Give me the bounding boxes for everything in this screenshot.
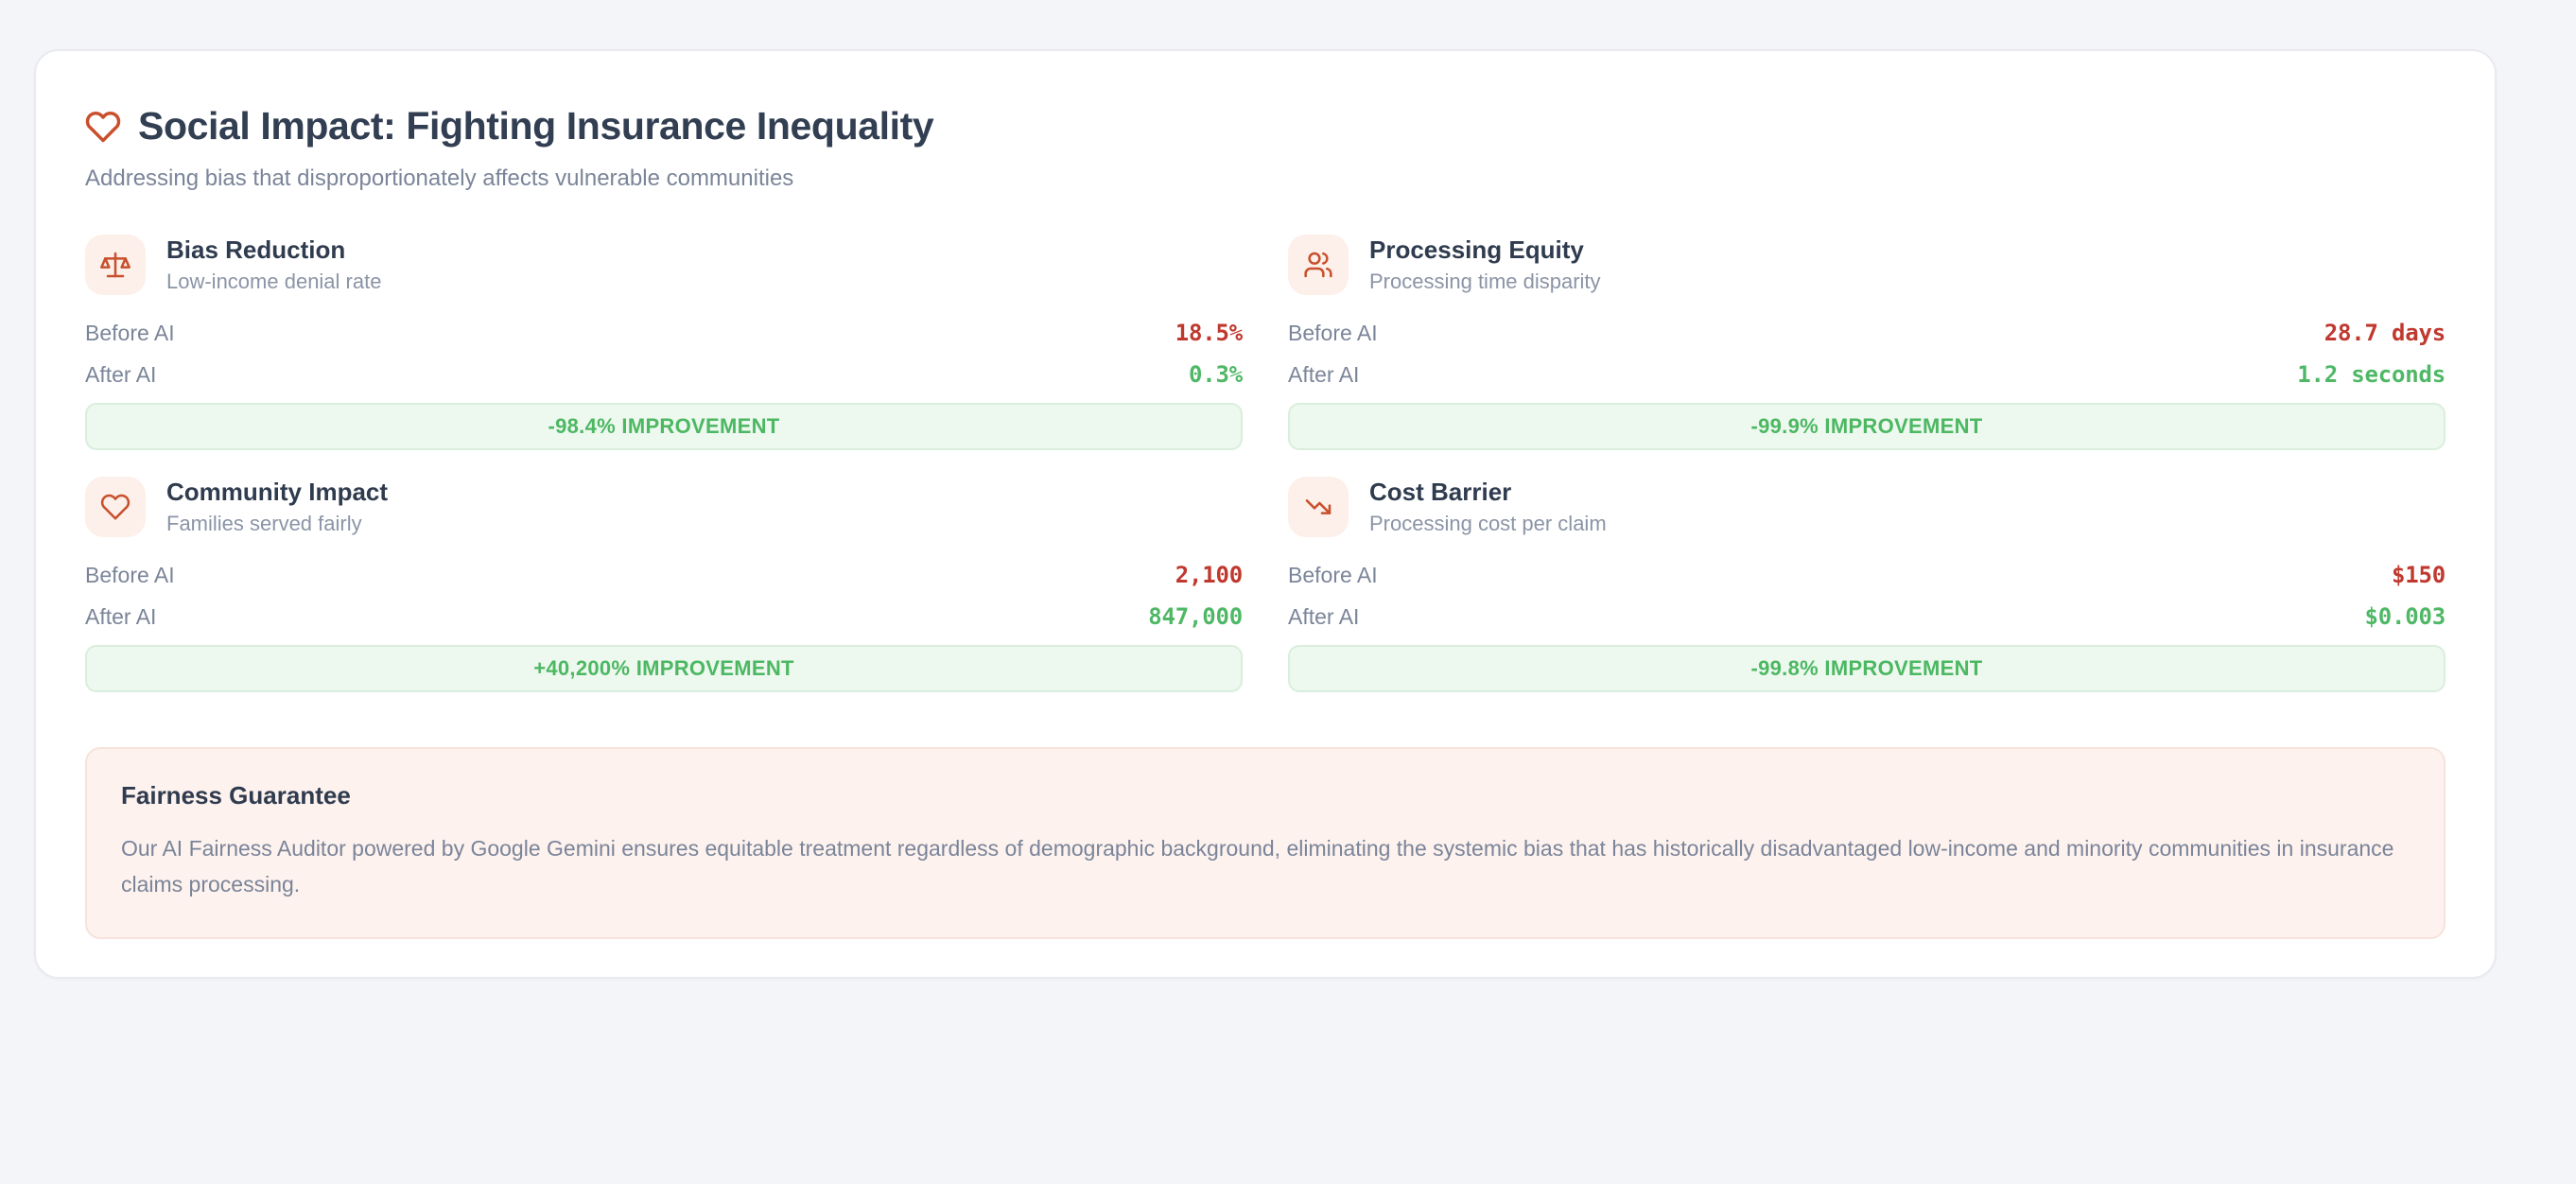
metric-header: Bias Reduction Low-income denial rate	[85, 235, 1243, 295]
metric-header-text: Community Impact Families served fairly	[166, 479, 388, 535]
after-label: After AI	[1288, 604, 1359, 630]
metric-sublabel: Processing cost per claim	[1369, 512, 1607, 535]
metric-row-after: After AI 847,000	[85, 603, 1243, 630]
improvement-badge: -98.4% IMPROVEMENT	[85, 403, 1243, 450]
fairness-guarantee-body: Our AI Fairness Auditor powered by Googl…	[121, 831, 2410, 903]
before-label: Before AI	[1288, 321, 1378, 346]
before-value: $150	[2392, 562, 2445, 588]
metric-card-processing-equity: Processing Equity Processing time dispar…	[1288, 235, 2445, 477]
page-subtitle: Addressing bias that disproportionately …	[85, 164, 2445, 193]
social-impact-panel: Social Impact: Fighting Insurance Inequa…	[34, 49, 2497, 979]
users-icon	[1288, 235, 1349, 295]
fairness-guarantee-panel: Fairness Guarantee Our AI Fairness Audit…	[85, 747, 2445, 939]
scales-icon	[85, 235, 146, 295]
metric-label: Processing Equity	[1369, 236, 1601, 264]
metrics-grid: Bias Reduction Low-income denial rate Be…	[85, 235, 2445, 719]
metric-header: Community Impact Families served fairly	[85, 477, 1243, 537]
metric-header-text: Processing Equity Processing time dispar…	[1369, 236, 1601, 293]
metric-row-before: Before AI 18.5%	[85, 320, 1243, 346]
before-value: 2,100	[1175, 562, 1243, 588]
fairness-guarantee-title: Fairness Guarantee	[121, 781, 2410, 810]
after-label: After AI	[85, 604, 156, 630]
metric-sublabel: Low-income denial rate	[166, 270, 381, 293]
after-label: After AI	[1288, 362, 1359, 388]
metric-row-before: Before AI $150	[1288, 562, 2445, 588]
metric-card-cost-barrier: Cost Barrier Processing cost per claim B…	[1288, 477, 2445, 719]
after-value: $0.003	[2365, 603, 2446, 630]
before-label: Before AI	[85, 321, 175, 346]
improvement-badge: -99.8% IMPROVEMENT	[1288, 645, 2445, 692]
metric-row-before: Before AI 2,100	[85, 562, 1243, 588]
metric-card-bias-reduction: Bias Reduction Low-income denial rate Be…	[85, 235, 1243, 477]
heart-icon	[85, 477, 146, 537]
metric-row-after: After AI 1.2 seconds	[1288, 361, 2445, 388]
before-value: 28.7 days	[2324, 320, 2445, 346]
after-value: 847,000	[1148, 603, 1243, 630]
metric-header-text: Bias Reduction Low-income denial rate	[166, 236, 381, 293]
before-value: 18.5%	[1175, 320, 1243, 346]
after-value: 0.3%	[1189, 361, 1243, 388]
improvement-badge: +40,200% IMPROVEMENT	[85, 645, 1243, 692]
metric-label: Cost Barrier	[1369, 479, 1607, 506]
before-label: Before AI	[1288, 563, 1378, 588]
metric-row-after: After AI 0.3%	[85, 361, 1243, 388]
metric-label: Community Impact	[166, 479, 388, 506]
after-label: After AI	[85, 362, 156, 388]
page-root: Social Impact: Fighting Insurance Inequa…	[0, 0, 2576, 1184]
page-title: Social Impact: Fighting Insurance Inequa…	[138, 104, 933, 148]
before-label: Before AI	[85, 563, 175, 588]
heart-icon	[85, 109, 121, 145]
metric-header: Cost Barrier Processing cost per claim	[1288, 477, 2445, 537]
improvement-badge: -99.9% IMPROVEMENT	[1288, 403, 2445, 450]
metric-card-community-impact: Community Impact Families served fairly …	[85, 477, 1243, 719]
metric-sublabel: Processing time disparity	[1369, 270, 1601, 293]
trending-down-icon	[1288, 477, 1349, 537]
title-row: Social Impact: Fighting Insurance Inequa…	[85, 104, 2445, 148]
after-value: 1.2 seconds	[2297, 361, 2445, 388]
metric-sublabel: Families served fairly	[166, 512, 388, 535]
metric-row-after: After AI $0.003	[1288, 603, 2445, 630]
metric-header: Processing Equity Processing time dispar…	[1288, 235, 2445, 295]
metric-header-text: Cost Barrier Processing cost per claim	[1369, 479, 1607, 535]
metric-row-before: Before AI 28.7 days	[1288, 320, 2445, 346]
panel-header: Social Impact: Fighting Insurance Inequa…	[85, 104, 2445, 193]
metric-label: Bias Reduction	[166, 236, 381, 264]
